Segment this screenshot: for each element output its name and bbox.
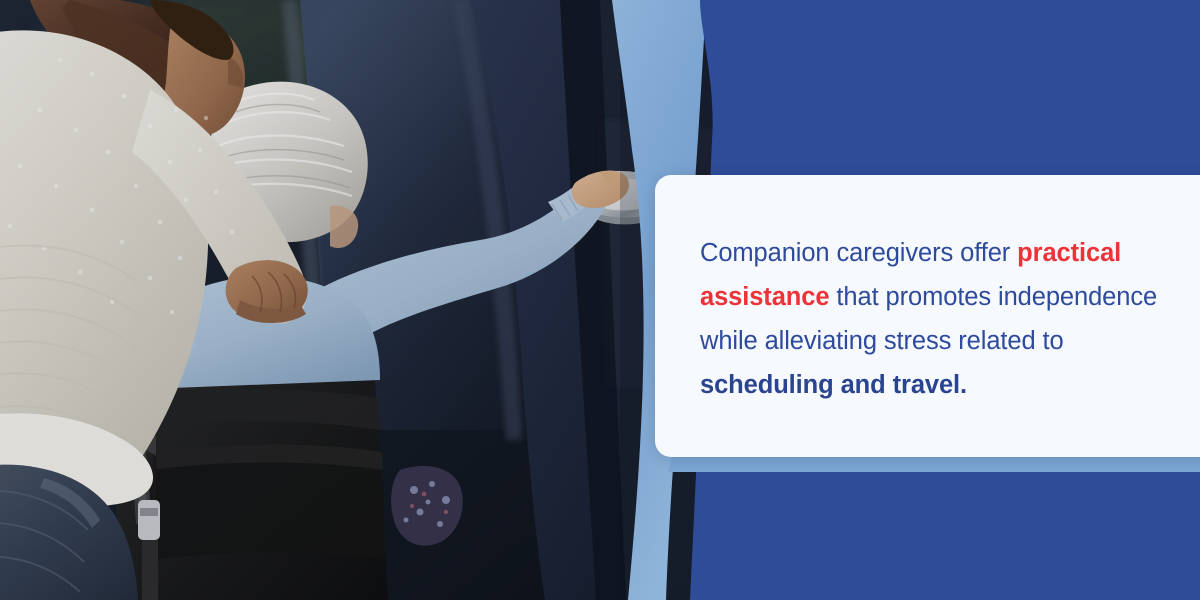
message-card: Companion caregivers offer practical ass…	[655, 175, 1200, 457]
message-lead: Companion caregivers offer	[700, 239, 1017, 267]
caregiver-photo	[0, 0, 760, 600]
message-highlight-blue: scheduling and travel.	[700, 371, 967, 399]
photo-illustration	[0, 0, 760, 600]
promotional-banner: Companion caregivers offer practical ass…	[0, 0, 1200, 600]
card-message: Companion caregivers offer practical ass…	[700, 231, 1190, 407]
